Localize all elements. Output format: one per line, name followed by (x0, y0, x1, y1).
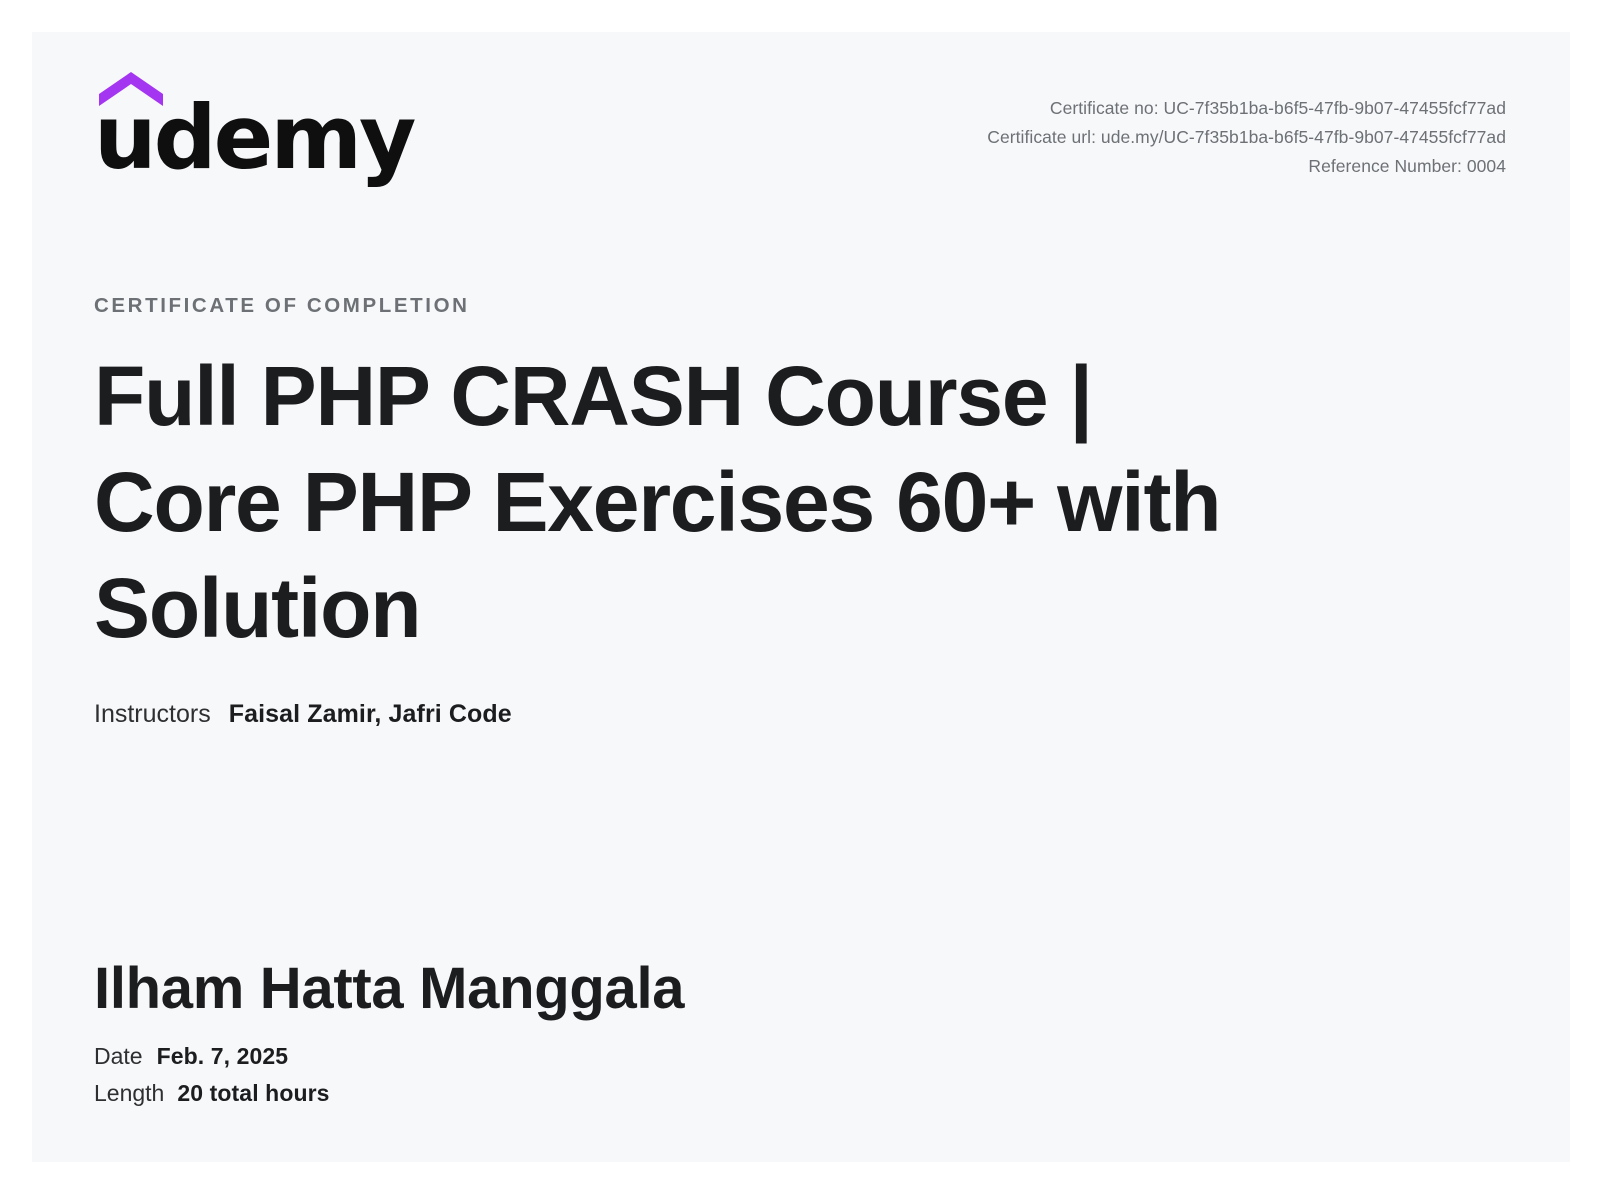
certificate-header: udemy Certificate no: UC-7f35b1ba-b6f5-4… (32, 32, 1570, 202)
reference-number: Reference Number: 0004 (987, 152, 1506, 181)
date-row: Date Feb. 7, 2025 (94, 1038, 1508, 1075)
date-label: Date (94, 1038, 143, 1075)
length-row: Length 20 total hours (94, 1075, 1508, 1112)
certificate-url: Certificate url: ude.my/UC-7f35b1ba-b6f5… (987, 123, 1506, 152)
recipient-name: Ilham Hatta Manggala (94, 954, 1508, 1024)
length-label: Length (94, 1075, 164, 1112)
certificate-card: udemy Certificate no: UC-7f35b1ba-b6f5-4… (32, 32, 1570, 1162)
instructors-names: Faisal Zamir, Jafri Code (229, 697, 512, 731)
certificate-eyebrow: CERTIFICATE OF COMPLETION (94, 294, 1508, 319)
certificate-body: CERTIFICATE OF COMPLETION Full PHP CRASH… (94, 294, 1508, 731)
certificate-metadata: Certificate no: UC-7f35b1ba-b6f5-47fb-9b… (987, 94, 1506, 181)
certificate-number: Certificate no: UC-7f35b1ba-b6f5-47fb-9b… (987, 94, 1506, 123)
udemy-wordmark: udemy (94, 94, 413, 182)
certificate-footer: Ilham Hatta Manggala Date Feb. 7, 2025 L… (94, 954, 1508, 1112)
date-value: Feb. 7, 2025 (157, 1038, 289, 1075)
udemy-logo: udemy (94, 72, 354, 177)
instructors-row: Instructors Faisal Zamir, Jafri Code (94, 697, 1508, 731)
course-title: Full PHP CRASH Course | Core PHP Exercis… (94, 343, 1294, 661)
length-value: 20 total hours (177, 1075, 329, 1112)
instructors-label: Instructors (94, 697, 211, 731)
